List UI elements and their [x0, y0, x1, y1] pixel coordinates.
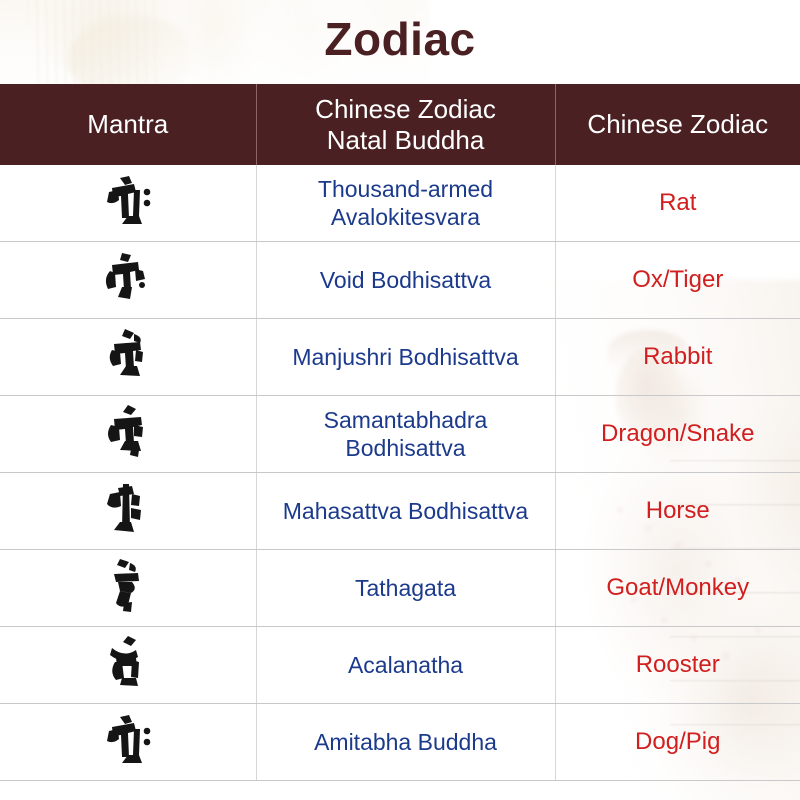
cell-mantra	[0, 473, 256, 550]
siddham-man-icon	[98, 326, 158, 384]
cell-natal-buddha: Acalanatha	[256, 627, 555, 704]
cell-natal-buddha: Void Bodhisattva	[256, 242, 555, 319]
zodiac-infographic: Zodiac Mantra Chinese Zodiac Natal Buddh…	[0, 0, 800, 800]
column-header-natal-buddha: Chinese Zodiac Natal Buddha	[256, 84, 555, 165]
siddham-hrih-icon	[98, 172, 158, 230]
table-header: Mantra Chinese Zodiac Natal Buddha Chine…	[0, 84, 800, 165]
header-row: Mantra Chinese Zodiac Natal Buddha Chine…	[0, 84, 800, 165]
siddham-tarah-icon	[98, 249, 158, 307]
chinese-zodiac-value: Dog/Pig	[564, 728, 793, 757]
table-body: Thousand-armed Avalokitesvara Rat	[0, 165, 800, 781]
cell-natal-buddha: Manjushri Bodhisattva	[256, 319, 555, 396]
cell-mantra	[0, 165, 256, 242]
cell-natal-buddha: Thousand-armed Avalokitesvara	[256, 165, 555, 242]
chinese-zodiac-value: Horse	[564, 497, 793, 526]
table-row: Tathagata Goat/Monkey	[0, 550, 800, 627]
table-row: Acalanatha Rooster	[0, 627, 800, 704]
natal-buddha-line1: Amitabha Buddha	[265, 728, 547, 756]
siddham-ham-icon	[98, 634, 158, 692]
column-header-natal-buddha-line2: Natal Buddha	[263, 125, 549, 156]
cell-mantra	[0, 242, 256, 319]
chinese-zodiac-value: Dragon/Snake	[564, 420, 793, 449]
table-row: Manjushri Bodhisattva Rabbit	[0, 319, 800, 396]
natal-buddha-line1: Thousand-armed	[265, 175, 547, 203]
cell-chinese-zodiac: Rabbit	[555, 319, 800, 396]
natal-buddha-line1: Manjushri Bodhisattva	[265, 343, 547, 371]
cell-chinese-zodiac: Dog/Pig	[555, 704, 800, 781]
table-row: Mahasattva Bodhisattva Horse	[0, 473, 800, 550]
column-header-mantra: Mantra	[0, 84, 256, 165]
chinese-zodiac-value: Ox/Tiger	[564, 266, 793, 295]
column-header-mantra-label: Mantra	[87, 109, 168, 139]
cell-mantra	[0, 396, 256, 473]
table-row: Void Bodhisattva Ox/Tiger	[0, 242, 800, 319]
cell-chinese-zodiac: Ox/Tiger	[555, 242, 800, 319]
zodiac-table: Mantra Chinese Zodiac Natal Buddha Chine…	[0, 84, 800, 781]
table-row: Thousand-armed Avalokitesvara Rat	[0, 165, 800, 242]
siddham-sa-icon	[98, 480, 158, 538]
cell-chinese-zodiac: Rat	[555, 165, 800, 242]
cell-mantra	[0, 704, 256, 781]
natal-buddha-line2: Avalokitesvara	[265, 203, 547, 231]
cell-mantra	[0, 319, 256, 396]
chinese-zodiac-value: Goat/Monkey	[564, 574, 793, 603]
cell-natal-buddha: Mahasattva Bodhisattva	[256, 473, 555, 550]
siddham-hrih2-icon	[98, 711, 158, 769]
siddham-am-icon	[98, 403, 158, 461]
natal-buddha-line1: Acalanatha	[265, 651, 547, 679]
table-row: Amitabha Buddha Dog/Pig	[0, 704, 800, 781]
chinese-zodiac-value: Rooster	[564, 651, 793, 680]
chinese-zodiac-value: Rat	[564, 189, 793, 218]
cell-chinese-zodiac: Goat/Monkey	[555, 550, 800, 627]
natal-buddha-line1: Tathagata	[265, 574, 547, 602]
cell-chinese-zodiac: Dragon/Snake	[555, 396, 800, 473]
natal-buddha-line2: Bodhisattva	[265, 434, 547, 462]
cell-chinese-zodiac: Horse	[555, 473, 800, 550]
siddham-vam-icon	[98, 557, 158, 615]
page-title: Zodiac	[324, 16, 475, 68]
cell-chinese-zodiac: Rooster	[555, 627, 800, 704]
cell-natal-buddha: Samantabhadra Bodhisattva	[256, 396, 555, 473]
cell-natal-buddha: Amitabha Buddha	[256, 704, 555, 781]
cell-natal-buddha: Tathagata	[256, 550, 555, 627]
column-header-chinese-zodiac: Chinese Zodiac	[555, 84, 800, 165]
column-header-chinese-zodiac-label: Chinese Zodiac	[587, 109, 768, 139]
cell-mantra	[0, 550, 256, 627]
chinese-zodiac-value: Rabbit	[564, 343, 793, 372]
title-bar: Zodiac	[0, 0, 800, 84]
cell-mantra	[0, 627, 256, 704]
column-header-natal-buddha-line1: Chinese Zodiac	[263, 94, 549, 125]
natal-buddha-line1: Samantabhadra	[265, 406, 547, 434]
natal-buddha-line1: Mahasattva Bodhisattva	[265, 497, 547, 525]
table-row: Samantabhadra Bodhisattva Dragon/Snake	[0, 396, 800, 473]
natal-buddha-line1: Void Bodhisattva	[265, 266, 547, 294]
